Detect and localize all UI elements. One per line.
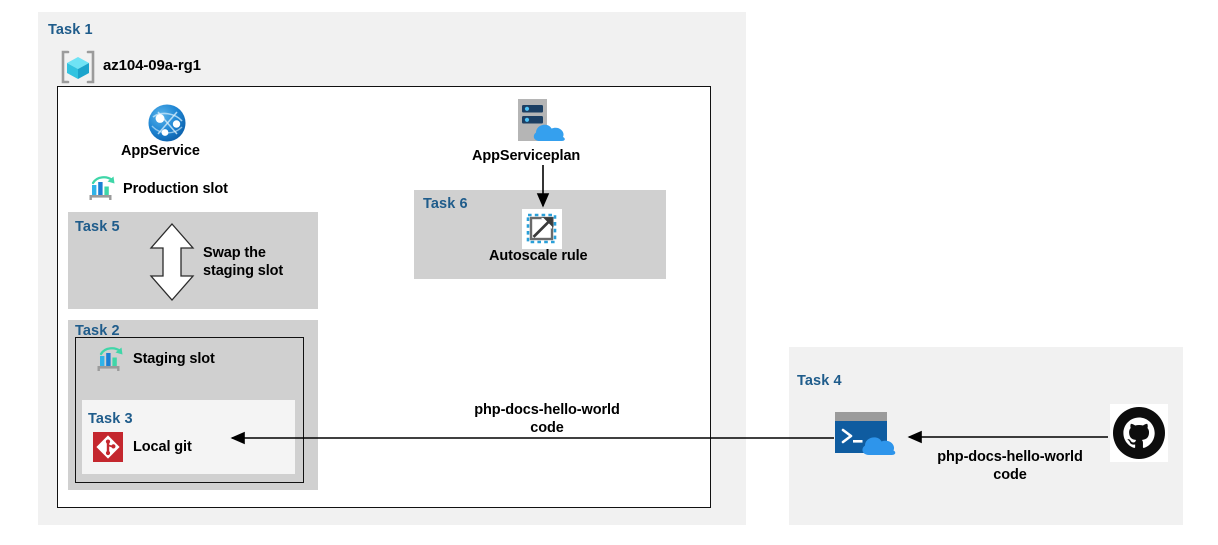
center-edge-label-line2: code xyxy=(530,420,563,436)
local-git-name: Local git xyxy=(133,439,192,455)
task5-action-label: Swap thestaging slot xyxy=(203,244,313,280)
deployment-slot-icon xyxy=(88,175,118,201)
app-service-plan-name: AppServiceplan xyxy=(472,148,580,164)
swap-double-arrow-icon xyxy=(146,222,198,302)
production-slot-name: Production slot xyxy=(123,181,228,197)
staging-slot-name: Staging slot xyxy=(133,351,215,367)
github-octocat-icon xyxy=(1110,404,1168,462)
resource-group-name: az104-09a-rg1 xyxy=(103,57,201,74)
task5-action-line1: Swap the xyxy=(203,245,266,261)
diagram-canvas: Task 1 az104-09a-rg1 xyxy=(0,0,1218,545)
github-edge-label-line2: code xyxy=(993,467,1026,483)
github-to-cloudshell-edge-label: php-docs-hello-worldcode xyxy=(914,448,1106,484)
github-edge-label-line1: php-docs-hello-world xyxy=(937,449,1082,465)
task1-label: Task 1 xyxy=(48,22,93,38)
task5-action-line2: staging slot xyxy=(203,263,283,279)
task6-label: Task 6 xyxy=(423,196,468,212)
cloudshell-to-localgit-edge-label: php-docs-hello-worldcode xyxy=(449,401,645,437)
center-edge-label-line1: php-docs-hello-world xyxy=(474,402,619,418)
app-service-name: AppService xyxy=(121,143,200,159)
git-icon xyxy=(93,432,123,462)
autoscale-rule-name: Autoscale rule xyxy=(489,248,588,264)
app-service-plan-icon xyxy=(512,97,574,145)
cloud-shell-icon xyxy=(833,410,899,460)
resource-group-cube-icon xyxy=(60,50,96,84)
deployment-slot-icon xyxy=(96,346,126,372)
task3-label: Task 3 xyxy=(88,411,133,427)
task5-label: Task 5 xyxy=(75,219,120,235)
task4-label: Task 4 xyxy=(797,373,842,389)
autoscale-rule-icon xyxy=(522,209,562,249)
app-service-globe-icon xyxy=(147,103,187,143)
